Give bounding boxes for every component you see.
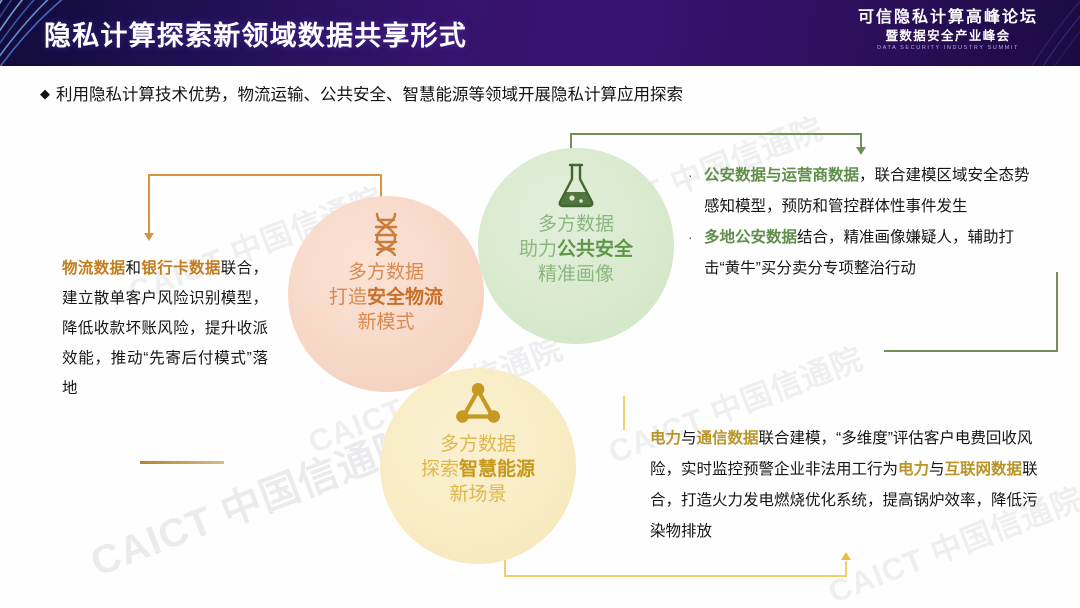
- energy-p2-highlight-1: 电力: [898, 461, 929, 478]
- venn-circle-logistics[interactable]: 多方数据 打造安全物流 新模式: [288, 196, 484, 392]
- logistics-body: 联合，建立散单客户风险识别模型，降低收款坏账风险，提升收派效能，推动“先寄后付模…: [62, 260, 268, 397]
- security-item-2-highlight: 多地公安数据: [704, 229, 797, 246]
- connector-logistics-underline: [140, 461, 224, 464]
- circle-line-2-plain: 探索: [421, 459, 459, 480]
- text-block-security: · 公安数据与运营商数据，联合建模区域安全态势感知模型，预防和管控群体性事件发生…: [688, 160, 1040, 284]
- circle-line-2-emphasis: 安全物流: [367, 287, 443, 308]
- venn-circle-logistics-text: 多方数据 打造安全物流 新模式: [329, 260, 443, 335]
- security-item-1-highlight: 公安数据与运营商数据: [704, 167, 859, 184]
- circle-line-3: 新模式: [329, 310, 443, 335]
- summit-logo-line1: 可信隐私计算高峰论坛: [834, 8, 1062, 28]
- slide-header: 隐私计算探索新领域数据共享形式 可信隐私计算高峰论坛 暨数据安全产业峰会 DAT…: [0, 0, 1080, 66]
- connector-security-bracket-vertical: [1056, 272, 1058, 352]
- energy-p2-mid: 与: [929, 461, 945, 478]
- energy-p1-mid: 与: [681, 430, 697, 447]
- list-item: · 多地公安数据结合，精准画像嫌疑人，辅助打击“黄牛”买分卖分专项整治行动: [688, 222, 1040, 284]
- connector-logistics-stub-left: [148, 174, 150, 236]
- bullet-dot-icon: ·: [688, 222, 704, 284]
- logistics-highlight-2: 银行卡数据: [141, 260, 220, 277]
- summit-logo: 可信隐私计算高峰论坛 暨数据安全产业峰会 DATA SECURITY INDUS…: [834, 8, 1062, 53]
- energy-p1-highlight-2: 通信数据: [697, 430, 759, 447]
- venn-circle-security[interactable]: 多方数据 助力公共安全 精准画像: [478, 148, 674, 344]
- text-block-energy: 电力与通信数据联合建模，“多维度”评估客户电费回收风险，实时监控预警企业非法用工…: [650, 423, 1042, 547]
- venn-circle-energy[interactable]: 多方数据 探索智慧能源 新场景: [380, 368, 576, 564]
- circle-line-1: 多方数据: [421, 432, 535, 457]
- connector-security-arrow-icon: [856, 147, 866, 155]
- circle-line-3: 新场景: [421, 482, 535, 507]
- circle-line-1: 多方数据: [519, 212, 633, 237]
- lead-bullet: ◆利用隐私计算技术优势，物流运输、公共安全、智慧能源等领域开展隐私计算应用探索: [40, 81, 683, 105]
- venn-circle-security-text: 多方数据 助力公共安全 精准画像: [519, 212, 633, 287]
- summit-logo-line2: 暨数据安全产业峰会: [834, 28, 1062, 44]
- diamond-bullet-icon: ◆: [40, 86, 50, 101]
- circle-line-2-emphasis: 智慧能源: [459, 459, 535, 480]
- energy-p1-highlight-1: 电力: [650, 430, 681, 447]
- bullet-dot-icon: ·: [688, 160, 704, 222]
- circle-line-1: 多方数据: [329, 260, 443, 285]
- connector-energy-stub-right: [845, 561, 847, 577]
- list-item: · 公安数据与运营商数据，联合建模区域安全态势感知模型，预防和管控群体性事件发生: [688, 160, 1040, 222]
- logistics-mid-1: 和: [125, 260, 141, 277]
- flask-icon: [554, 162, 598, 208]
- summit-logo-line3: DATA SECURITY INDUSTRY SUMMIT: [834, 44, 1062, 53]
- logistics-highlight-1: 物流数据: [62, 260, 125, 277]
- connector-energy-side-tick: [623, 396, 625, 430]
- connector-security-horizontal: [570, 133, 862, 135]
- circle-line-2-plain: 打造: [329, 287, 367, 308]
- lead-bullet-text: 利用隐私计算技术优势，物流运输、公共安全、智慧能源等领域开展隐私计算应用探索: [56, 86, 683, 104]
- connector-logistics-arrow-icon: [144, 233, 154, 241]
- circle-line-3: 精准画像: [519, 262, 633, 287]
- circle-line-2-plain: 助力: [519, 239, 557, 260]
- connector-energy-horizontal: [504, 575, 847, 577]
- circle-line-2-emphasis: 公共安全: [557, 239, 633, 260]
- connector-security-bracket-horizontal: [884, 350, 1058, 352]
- slide-root: CAICT 中国信通院 CAICT 中国信通院 CAICT 中国信通院 CAIC…: [0, 0, 1080, 608]
- molecule-triangle-icon: [453, 382, 503, 428]
- text-block-logistics: 物流数据和银行卡数据联合，建立散单客户风险识别模型，降低收款坏账风险，提升收派效…: [62, 254, 268, 404]
- watermark: CAICT 中国信通院: [81, 410, 423, 588]
- dna-helix-icon: [364, 210, 408, 256]
- connector-energy-arrow-icon: [841, 552, 851, 560]
- energy-p2-highlight-2: 互联网数据: [945, 461, 1023, 478]
- connector-logistics-horizontal: [148, 174, 382, 176]
- venn-circle-energy-text: 多方数据 探索智慧能源 新场景: [421, 432, 535, 507]
- page-title: 隐私计算探索新领域数据共享形式: [44, 14, 467, 53]
